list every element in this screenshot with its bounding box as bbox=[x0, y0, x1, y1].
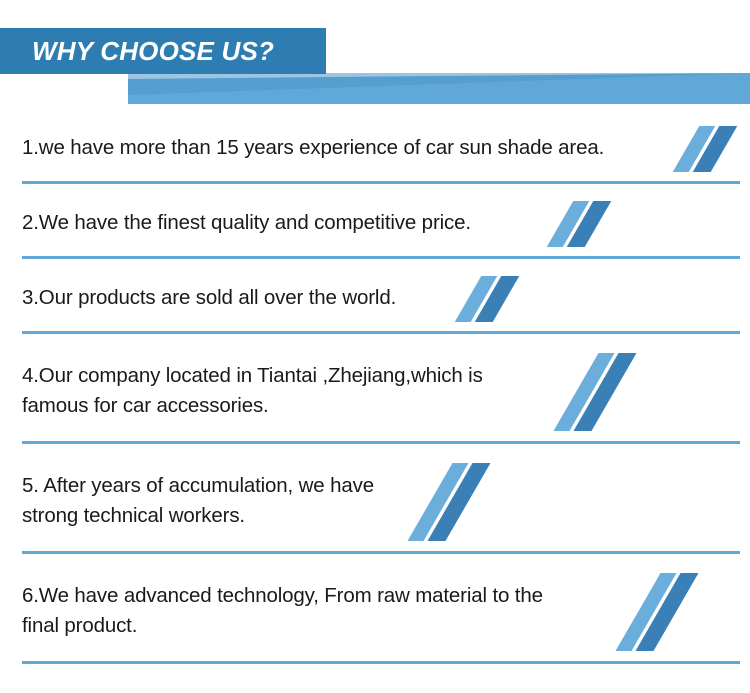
benefits-list: 1.we have more than 15 years experience … bbox=[0, 112, 750, 667]
list-item-underline bbox=[22, 331, 740, 334]
list-item-body: 2.We have the finest quality and competi… bbox=[0, 187, 750, 259]
list-item: 2.We have the finest quality and competi… bbox=[0, 187, 750, 262]
list-item-text: 2.We have the finest quality and competi… bbox=[22, 208, 471, 238]
list-item-underline bbox=[22, 181, 740, 184]
list-item-text: 5. After years of accumulation, we have … bbox=[22, 471, 374, 531]
list-item-underline bbox=[22, 441, 740, 444]
list-item: 1.we have more than 15 years experience … bbox=[0, 112, 750, 187]
list-item-body: 1.we have more than 15 years experience … bbox=[0, 112, 750, 184]
list-item-underline bbox=[22, 551, 740, 554]
list-item-body: 6.We have advanced technology, From raw … bbox=[0, 557, 750, 664]
page-title: WHY CHOOSE US? bbox=[32, 28, 326, 74]
list-item-text: 4.Our company located in Tiantai ,Zhejia… bbox=[22, 361, 483, 421]
list-item: 4.Our company located in Tiantai ,Zhejia… bbox=[0, 337, 750, 447]
header-banner: WHY CHOOSE US? bbox=[0, 0, 750, 112]
list-item-body: 4.Our company located in Tiantai ,Zhejia… bbox=[0, 337, 750, 444]
list-item-text: 1.we have more than 15 years experience … bbox=[22, 133, 604, 163]
list-item: 5. After years of accumulation, we have … bbox=[0, 447, 750, 557]
list-item-underline bbox=[22, 661, 740, 664]
list-item-text: 3.Our products are sold all over the wor… bbox=[22, 283, 396, 313]
list-item-body: 5. After years of accumulation, we have … bbox=[0, 447, 750, 554]
list-item-text: 6.We have advanced technology, From raw … bbox=[22, 581, 543, 641]
list-item: 3.Our products are sold all over the wor… bbox=[0, 262, 750, 337]
list-item-body: 3.Our products are sold all over the wor… bbox=[0, 262, 750, 334]
list-item: 6.We have advanced technology, From raw … bbox=[0, 557, 750, 667]
list-item-underline bbox=[22, 256, 740, 259]
